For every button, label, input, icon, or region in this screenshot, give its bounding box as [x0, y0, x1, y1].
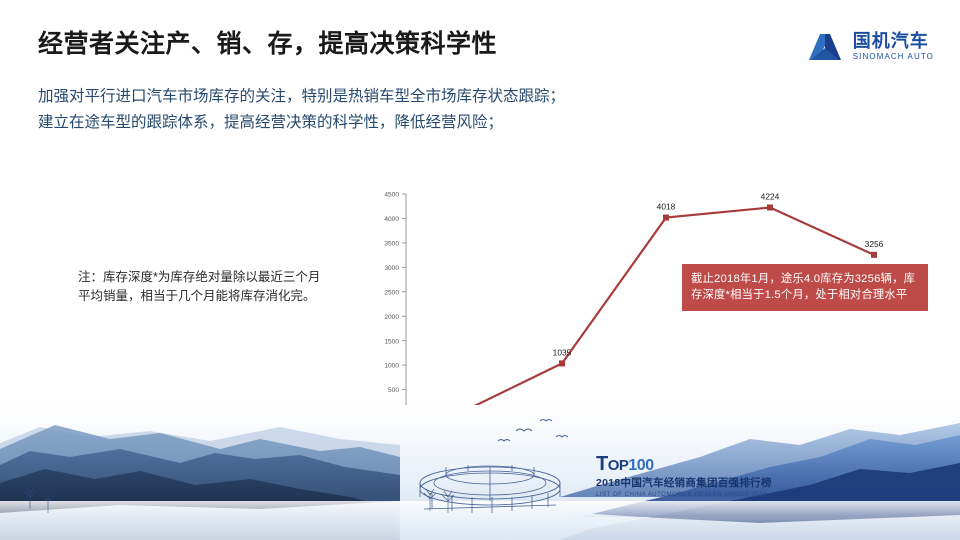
data-point-marker — [664, 215, 669, 220]
brand-name-cn: 国机汽车 — [853, 32, 934, 50]
top100-op: OP — [608, 457, 629, 474]
data-point-marker — [872, 252, 877, 257]
y-tick-label: 1500 — [384, 338, 399, 345]
y-tick-label: 3500 — [384, 240, 399, 247]
top100-wordmark: TOP100 — [596, 454, 772, 474]
y-tick-label: 2500 — [384, 289, 399, 296]
data-point-marker — [768, 205, 773, 210]
brand-wordmark: 国机汽车 SINOMACH AUTO — [853, 32, 934, 61]
subtitle-line-2: 建立在途车型的跟踪体系，提高经营决策的科学性，降低经营风险； — [38, 110, 565, 136]
footnote-text: 注：库存深度*为库存绝对量除以最近三个月平均销量，相当于几个月能将库存消化完。 — [78, 268, 328, 306]
data-point-label: 1035 — [553, 347, 572, 357]
y-axis — [402, 194, 406, 414]
y-axis-tick-labels: 050010001500200025003000350040004500 — [384, 192, 399, 419]
y-tick-label: 3000 — [384, 265, 399, 272]
data-point-label: 4224 — [761, 191, 780, 201]
subtitle-line-1: 加强对平行进口汽车市场库存的关注，特别是热销车型全市场库存状态跟踪； — [38, 84, 565, 110]
data-point-label: 4018 — [657, 202, 676, 212]
brand-logo: 国机汽车 SINOMACH AUTO — [805, 30, 934, 63]
data-point-marker — [560, 361, 565, 366]
brand-name-en: SINOMACH AUTO — [853, 53, 934, 61]
page-title: 经营者关注产、销、存，提高决策科学性 — [38, 24, 497, 60]
top100-title-cn: 2018中国汽车经销商集团百强排行榜 — [596, 478, 772, 489]
top100-number: 100 — [628, 457, 653, 474]
y-tick-label: 500 — [388, 387, 399, 394]
page-subtitle: 加强对平行进口汽车市场库存的关注，特别是热销车型全市场库存状态跟踪； 建立在途车… — [38, 84, 565, 136]
y-tick-label: 2000 — [384, 314, 399, 321]
y-tick-label: 4500 — [384, 192, 399, 199]
slide-root: 经营者关注产、销、存，提高决策科学性 加强对平行进口汽车市场库存的关注，特别是热… — [0, 0, 960, 540]
callout-line-2: 存深度*相当于1.5个月，处于相对合理水平 — [691, 287, 919, 303]
callout-box: 截止2018年1月，途乐4.0库存为3256辆，库 存深度*相当于1.5个月，处… — [682, 264, 928, 311]
top100-t: T — [596, 453, 608, 475]
mountain-scenery-image — [0, 405, 960, 540]
mountain-logo-icon — [805, 30, 845, 63]
y-tick-label: 1000 — [384, 363, 399, 370]
y-tick-label: 4000 — [384, 216, 399, 223]
data-point-label: 3256 — [865, 239, 884, 249]
inventory-line-chart: 050010001500200025003000350040004500 010… — [374, 188, 930, 434]
top100-badge: TOP100 2018中国汽车经销商集团百强排行榜 LIST OF CHINA … — [596, 454, 772, 498]
callout-line-1: 截止2018年1月，途乐4.0库存为3256辆，库 — [691, 271, 919, 287]
top100-title-en: LIST OF CHINA AUTOMOBILE DEALER GROUP 20… — [596, 492, 772, 498]
